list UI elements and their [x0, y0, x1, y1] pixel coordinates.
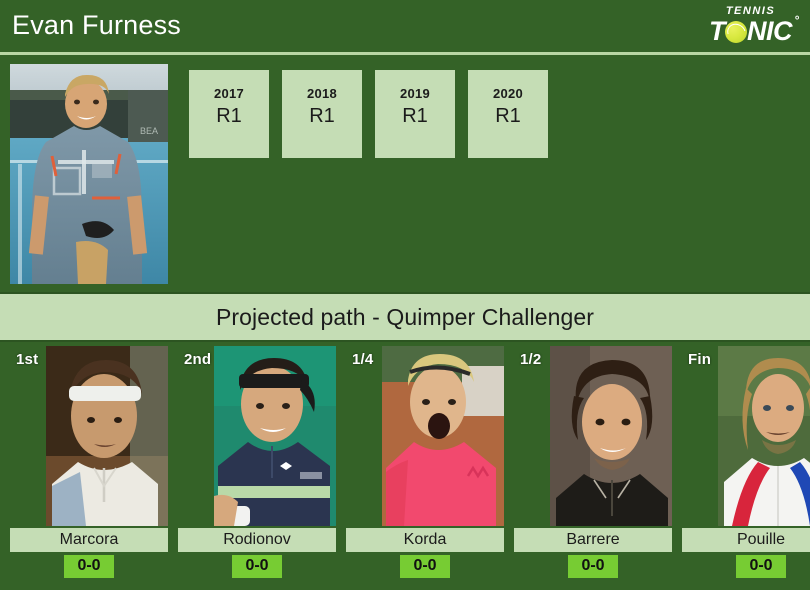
opponent-photo — [718, 346, 810, 526]
opponent-photo — [382, 346, 504, 526]
opponent-card[interactable]: 1/4 Korda 0-0 — [346, 346, 504, 578]
opponent-name: Korda — [346, 528, 504, 552]
year-result: R1 — [216, 105, 242, 128]
logo-letters-nic: NIC — [747, 18, 792, 45]
opponent-photo-graphic — [550, 346, 672, 526]
year-label: 2018 — [307, 86, 337, 101]
trademark-icon: ° — [795, 14, 799, 26]
round-label: 2nd — [184, 351, 211, 368]
opponent-name: Rodionov — [178, 528, 336, 552]
opponent-card[interactable]: 1/2 Barrere 0-0 — [514, 346, 672, 578]
svg-text:BEA: BEA — [140, 126, 158, 136]
head-to-head-score: 0-0 — [232, 555, 281, 578]
opponent-photo — [550, 346, 672, 526]
round-label: Fin — [688, 351, 711, 368]
logo-top-text: TENNIS — [726, 6, 775, 17]
year-result-box[interactable]: 2020 R1 — [468, 70, 548, 158]
player-photo-graphic: BEA — [10, 64, 168, 284]
round-label: 1/2 — [520, 351, 541, 368]
logo-letter-t: T — [709, 18, 725, 45]
opponent-name: Marcora — [10, 528, 168, 552]
round-label: 1/4 — [352, 351, 373, 368]
header-divider — [0, 50, 810, 58]
round-label: 1st — [16, 351, 38, 368]
head-to-head-score: 0-0 — [64, 555, 113, 578]
opponent-name: Barrere — [514, 528, 672, 552]
year-label: 2019 — [400, 86, 430, 101]
opponent-card[interactable]: Fin Pouille 0-0 — [682, 346, 810, 578]
projected-path-header: Projected path - Quimper Challenger — [0, 292, 810, 342]
logo-wordmark: T NIC ° — [709, 18, 792, 45]
year-label: 2017 — [214, 86, 244, 101]
profile-section: BEA 2017 R1 2018 R1 — [0, 58, 810, 290]
year-result-box[interactable]: 2018 R1 — [282, 70, 362, 158]
opponent-photo-graphic — [382, 346, 504, 526]
head-to-head-score: 0-0 — [568, 555, 617, 578]
year-result: R1 — [402, 105, 428, 128]
year-label: 2020 — [493, 86, 523, 101]
projected-path-title: Projected path - Quimper Challenger — [216, 304, 594, 331]
opponent-card[interactable]: 1st Marcora 0-0 — [10, 346, 168, 578]
opponent-photo-graphic — [214, 346, 336, 526]
year-result: R1 — [309, 105, 335, 128]
opponent-name: Pouille — [682, 528, 810, 552]
year-result-box[interactable]: 2019 R1 — [375, 70, 455, 158]
opponent-photo — [46, 346, 168, 526]
page-header: Evan Furness TENNIS T NIC ° — [0, 0, 810, 50]
opponent-card[interactable]: 2nd Rodionov 0-0 — [178, 346, 336, 578]
opponent-photo-graphic — [718, 346, 810, 526]
head-to-head-score: 0-0 — [736, 555, 785, 578]
year-result: R1 — [495, 105, 521, 128]
tennis-tonic-logo[interactable]: TENNIS T NIC ° — [709, 6, 800, 45]
page-title: Evan Furness — [12, 12, 181, 39]
player-photo: BEA — [10, 64, 168, 284]
projected-path-cards: 1st Marcora 0-0 2nd — [0, 340, 810, 578]
opponent-photo-graphic — [46, 346, 168, 526]
head-to-head-score: 0-0 — [400, 555, 449, 578]
tennis-ball-icon — [725, 21, 747, 43]
year-result-box[interactable]: 2017 R1 — [189, 70, 269, 158]
year-results-list: 2017 R1 2018 R1 2019 R1 2020 R1 — [189, 70, 548, 158]
opponent-photo — [214, 346, 336, 526]
